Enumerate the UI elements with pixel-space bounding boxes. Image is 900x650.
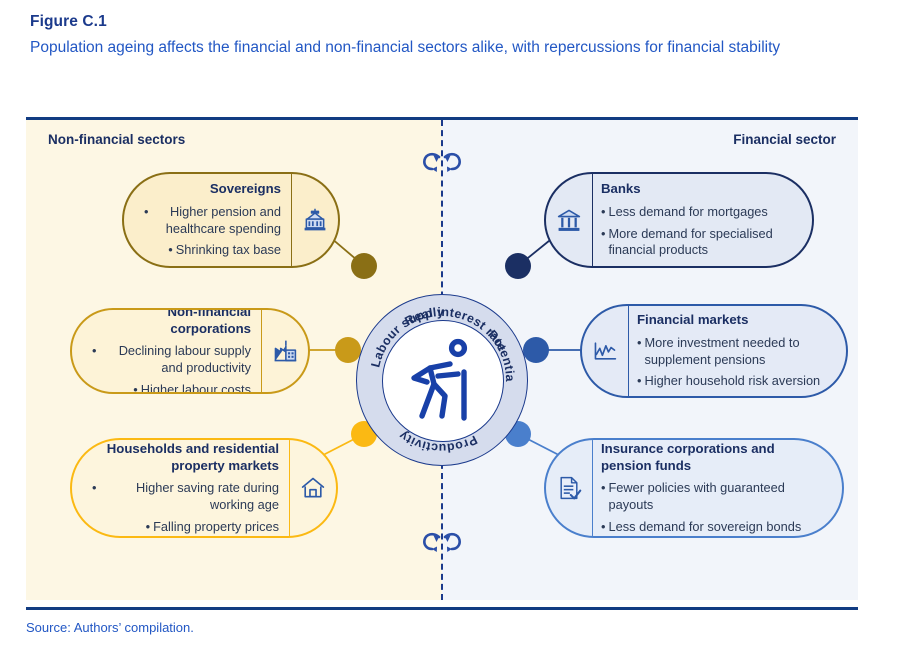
card-banks[interactable]: Banks • Less demand for mortgages • More…: [544, 172, 814, 268]
card-non-financial-corporations[interactable]: Non-financial corporations • Declining l…: [70, 308, 310, 394]
card-insurance-corporations-and-pension-funds[interactable]: Insurance corporations and pension funds…: [544, 438, 844, 538]
bullet-text: Shrinking tax base: [176, 242, 281, 259]
figure-title: Population ageing affects the financial …: [30, 35, 790, 62]
bullet-dot: •: [92, 343, 96, 376]
card-nfc-bullets: • Declining labour supply and productivi…: [92, 341, 251, 394]
card-banks-body: Banks • Less demand for mortgages • More…: [593, 174, 812, 266]
card-insurance-body: Insurance corporations and pension funds…: [593, 440, 842, 536]
bullet-item: • Shrinking tax base: [144, 242, 281, 259]
card-sovereigns-bullets: • Higher pension and healthcare spending…: [144, 202, 281, 259]
bullet-text: More demand for specialised financial pr…: [608, 226, 796, 259]
bullet-dot: •: [637, 335, 641, 368]
bullet-item: • Higher labour costs: [92, 382, 251, 394]
bullet-item: • Declining labour supply and productivi…: [92, 343, 251, 376]
bullet-item: • Less demand for sovereign bonds: [601, 519, 826, 536]
card-banks-bullets: • Less demand for mortgages • More deman…: [601, 202, 796, 259]
card-insurance-title: Insurance corporations and pension funds: [601, 441, 826, 475]
bullet-dot: •: [601, 204, 605, 221]
bullet-dot: •: [637, 373, 641, 390]
figure-header: Figure C.1 Population ageing affects the…: [30, 10, 870, 62]
elderly-person-with-cane-icon: [400, 334, 484, 426]
bullet-dot: •: [601, 226, 605, 259]
card-sovereigns-title: Sovereigns: [210, 181, 281, 198]
card-sovereigns-body: Sovereigns • Higher pension and healthca…: [124, 174, 291, 266]
card-nfc-body: Non-financial corporations • Declining l…: [72, 310, 261, 392]
card-financial-markets-body: Financial markets • More investment need…: [629, 306, 846, 396]
bullet-item: • Higher pension and healthcare spending: [144, 204, 281, 237]
bullet-item: • Fewer policies with guaranteed payouts: [601, 480, 826, 513]
bullet-text: Falling property prices: [153, 519, 279, 536]
central-hub: Labour supply Real interest rate Potenti…: [356, 294, 528, 466]
bullet-dot: •: [92, 480, 96, 513]
card-financial-markets[interactable]: Financial markets • More investment need…: [580, 304, 848, 398]
bullet-dot: •: [133, 382, 137, 394]
card-financial-markets-bullets: • More investment needed to supplement p…: [637, 333, 830, 390]
card-households-body: Households and residential property mark…: [72, 440, 289, 536]
card-households-title: Households and residential property mark…: [92, 441, 279, 475]
bullet-item: • Higher saving rate during working age: [92, 480, 279, 513]
bullet-text: Higher labour costs: [141, 382, 251, 394]
card-sovereigns[interactable]: Sovereigns • Higher pension and healthca…: [122, 172, 340, 268]
bullet-dot: •: [168, 242, 172, 259]
bullet-dot: •: [146, 519, 150, 536]
card-households-bullets: • Higher saving rate during working age …: [92, 478, 279, 535]
bullet-text: More investment needed to supplement pen…: [644, 335, 830, 368]
bullet-dot: •: [601, 519, 605, 536]
bullet-dot: •: [601, 480, 605, 513]
bullet-item: • More investment needed to supplement p…: [637, 335, 830, 368]
card-nfc-title: Non-financial corporations: [92, 308, 251, 337]
card-banks-title: Banks: [601, 181, 641, 198]
source-note: Source: Authors’ compilation.: [26, 620, 194, 635]
bullet-dot: •: [144, 204, 148, 237]
bullet-text: Less demand for mortgages: [608, 204, 767, 221]
bullet-text: Fewer policies with guaranteed payouts: [608, 480, 826, 513]
diagram-panel: Non-financial sectors Financial sector: [26, 120, 858, 600]
figure-label: Figure C.1: [30, 10, 870, 33]
bullet-text: Less demand for sovereign bonds: [608, 519, 801, 536]
bullet-text: Higher household risk aversion: [644, 373, 820, 390]
bullet-text: Higher saving rate during working age: [99, 480, 279, 513]
bullet-item: • Less demand for mortgages: [601, 204, 796, 221]
bullet-item: • More demand for specialised financial …: [601, 226, 796, 259]
card-insurance-bullets: • Fewer policies with guaranteed payouts…: [601, 478, 826, 535]
card-financial-markets-title: Financial markets: [637, 312, 748, 329]
bullet-item: • Falling property prices: [92, 519, 279, 536]
connector-dot-sovereigns: [351, 253, 377, 279]
bullet-text: Higher pension and healthcare spending: [151, 204, 281, 237]
bullet-item: • Higher household risk aversion: [637, 373, 830, 390]
footer-divider-rule: [26, 607, 858, 610]
bullet-text: Declining labour supply and productivity: [99, 343, 251, 376]
connector-dot-banks: [505, 253, 531, 279]
card-households-and-residential-property-markets[interactable]: Households and residential property mark…: [70, 438, 338, 538]
